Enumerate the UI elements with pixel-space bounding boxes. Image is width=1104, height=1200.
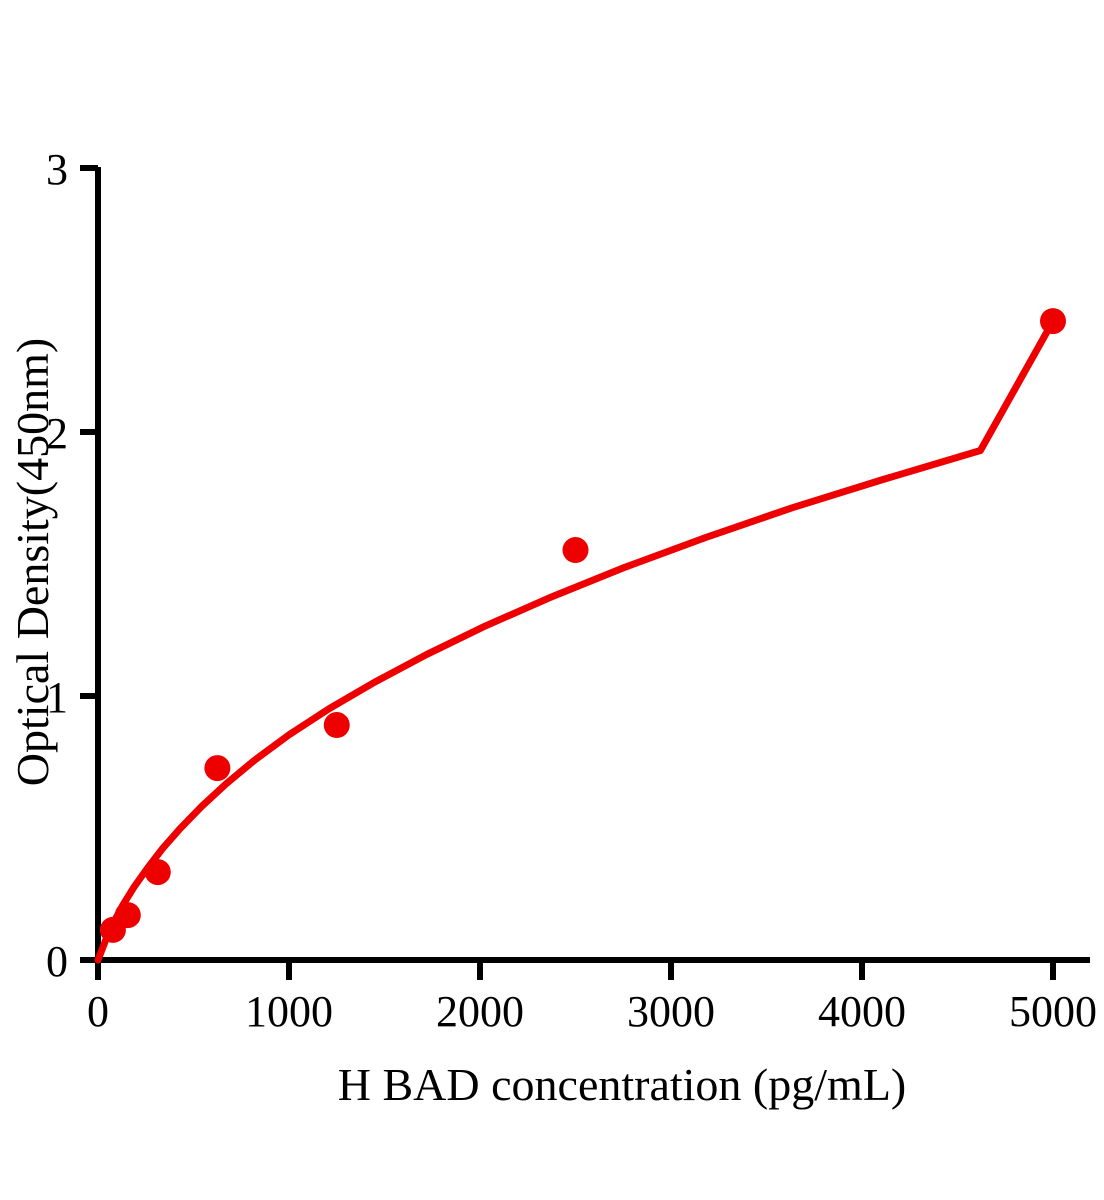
x-tick-label-5000: 5000 [1009, 987, 1097, 1036]
fit-curve-line [98, 321, 1053, 960]
standard-curve-chart: 0 1 2 3 0 1000 2000 3000 4000 5000 H BAD… [0, 0, 1104, 1200]
data-point [1040, 308, 1066, 334]
x-axis-title: H BAD concentration (pg/mL) [338, 1059, 906, 1110]
data-point [324, 712, 350, 738]
data-point-markers [100, 308, 1066, 943]
x-tick-label-2000: 2000 [436, 987, 524, 1036]
data-point [563, 537, 589, 563]
x-tick-label-4000: 4000 [818, 987, 906, 1036]
x-tick-label-1000: 1000 [245, 987, 333, 1036]
y-axis-title: Optical Density(450nm) [7, 338, 58, 786]
y-tick-label-3: 3 [46, 145, 68, 194]
y-tick-label-0: 0 [46, 937, 68, 986]
chart-container: 0 1 2 3 0 1000 2000 3000 4000 5000 H BAD… [0, 0, 1104, 1200]
data-point [145, 859, 171, 885]
data-point [204, 755, 230, 781]
data-point [115, 902, 141, 928]
x-tick-label-3000: 3000 [627, 987, 715, 1036]
x-tick-label-0: 0 [87, 987, 109, 1036]
